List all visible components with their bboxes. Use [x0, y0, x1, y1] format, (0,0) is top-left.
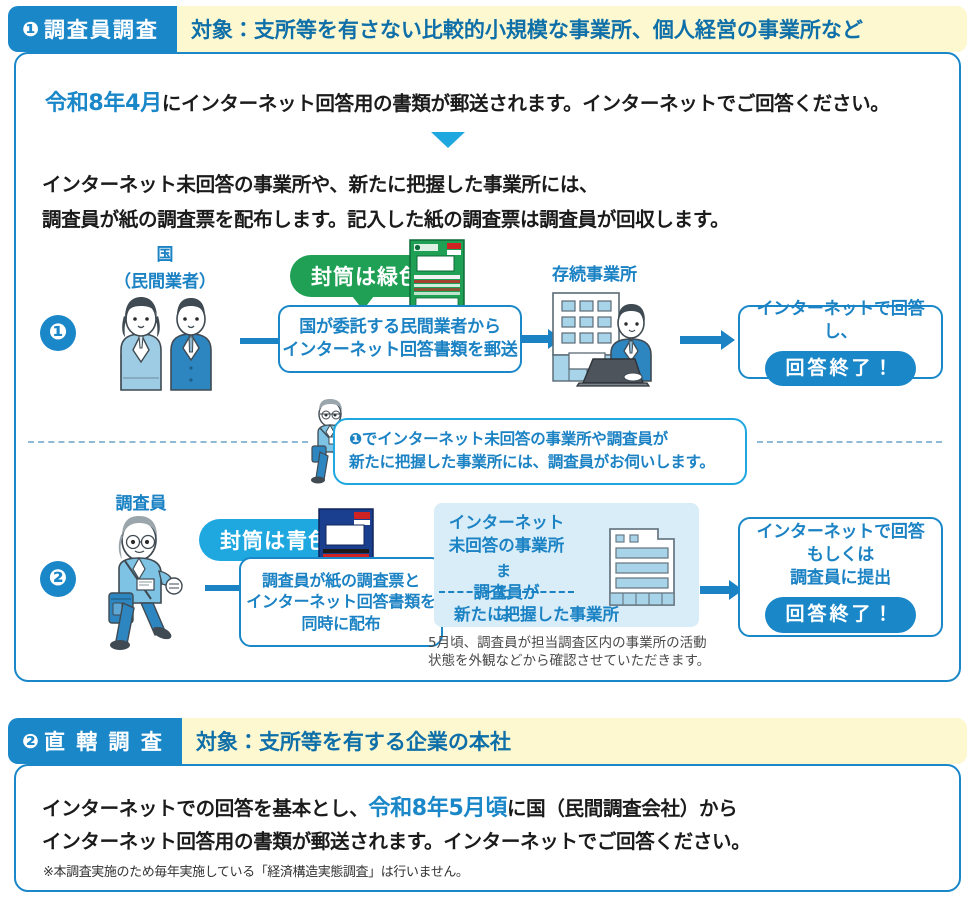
section2-line2: インターネット回答用の書類が郵送されます。インターネットでご回答ください。 [42, 825, 750, 854]
step2-envelope-bubble-label: 封筒は青色 [220, 525, 330, 555]
government-officials-illustration [103, 292, 229, 392]
step2-arrow-to-result [700, 586, 730, 594]
section2-line1: インターネットでの回答を基本とし、令和8年5月頃に国（民間調査会社）から [42, 790, 737, 822]
section1-sub-line1: インターネット未回答の事業所や、新たに把握した事業所には、 [42, 168, 598, 197]
step1-action-box: 国が委託する民間業者から インターネット回答書類を郵送 [278, 305, 522, 373]
section2-line1-a: インターネットでの回答を基本とし、 [42, 797, 368, 820]
step1-arrow-to-result [680, 336, 722, 344]
step2-action-box: 調査員が紙の調査票と インターネット回答書類を 同時に配布 [239, 557, 443, 647]
step2-result-box: インターネットで回答 もしくは 調査員に提出 回答終了！ [738, 517, 943, 637]
down-arrow-icon [431, 132, 465, 148]
middle-note-line2: 新たに把握した事業所には、調査員がお伺いします。 [349, 451, 731, 474]
section2-subject: 対象：支所等を有する企業の本社 [182, 718, 967, 764]
step1-target-label: 存続事業所 [552, 260, 692, 285]
step2-caption-line1: 5月頃、調査員が担当調査区内の事業所の活動 [428, 634, 710, 652]
middle-note-dash-right [757, 441, 942, 443]
section2-tab-label: 直 轄 調 査 [44, 726, 164, 756]
section2-line1-b: に国（民間調査会社）から [507, 797, 737, 820]
step2-target-box: インターネット 未回答の事業所 または 調査員が 新たに把握した事業所 [434, 503, 699, 627]
step2-result-line2: もしくは [807, 544, 874, 567]
step1-action-line2: インターネット回答書類を郵送 [282, 339, 517, 362]
section2-line1-highlight: 令和8年5月頃 [368, 796, 507, 821]
step1-actor-label-line2: （民間業者） [103, 267, 227, 292]
step2-action-line1: 調査員が紙の調査票と [262, 570, 420, 592]
step1-number: ❶ [40, 315, 76, 351]
step1-result-line1: インターネットで回答し、 [740, 298, 941, 344]
step2-caption: 5月頃、調査員が担当調査区内の事業所の活動 状態を外観などから確認させていただき… [428, 634, 710, 670]
step2-caption-line2: 状態を外観などから確認させていただきます。 [428, 652, 710, 670]
new-establishment-building-icon [604, 515, 684, 609]
step2-result-line3: 調査員に提出 [790, 567, 891, 590]
section1-tab: ❶ 調査員調査 [8, 6, 177, 52]
step1-connector-left [240, 338, 278, 344]
section2-footnote: ※本調査実施のため毎年実施している「経済構造実態調査」は行いません。 [43, 861, 469, 880]
step2-actor-label: 調査員 [86, 489, 196, 514]
step1-envelope-bubble-label: 封筒は緑色 [311, 261, 421, 291]
section1-intro-rest: にインターネット回答用の書類が郵送されます。インターネットでご回答ください。 [162, 92, 890, 115]
step2-number: ❷ [40, 561, 76, 597]
middle-note-line1: ❶でインターネット未回答の事業所や調査員が [349, 428, 731, 451]
step2-action-line3: 同時に配布 [301, 613, 380, 635]
section1-intro-highlight: 令和8年4月 [45, 91, 162, 116]
step2-result-pill: 回答終了！ [765, 597, 915, 633]
infographic-page: ❶ 調査員調査 対象：支所等を有さない比較的小規模な事業所、個人経営の事業所など… [0, 0, 975, 900]
middle-note-dash-left [28, 441, 308, 443]
section1-tab-label: 調査員調査 [44, 14, 159, 44]
surveyor-walking-illustration [93, 513, 197, 653]
section1-sub-line2: 調査員が紙の調査票を配布します。記入した紙の調査票は調査員が回収します。 [42, 203, 729, 232]
step2-action-line2: インターネット回答書類を [246, 591, 436, 613]
section2-tab: ❷ 直 轄 調 査 [8, 718, 182, 764]
section1-intro: 令和8年4月にインターネット回答用の書類が郵送されます。インターネットでご回答く… [45, 85, 889, 117]
middle-note-callout: ❶でインターネット未回答の事業所や調査員が 新たに把握した事業所には、調査員がお… [333, 418, 747, 485]
section1-banner: ❶ 調査員調査 対象：支所等を有さない比較的小規模な事業所、個人経営の事業所など [8, 6, 967, 52]
step1-result-pill: 回答終了！ [765, 351, 915, 387]
step2-connector-left [205, 585, 239, 591]
existing-establishment-illustration [549, 287, 677, 387]
section1-tab-number: ❶ [22, 17, 39, 41]
section2-banner: ❷ 直 轄 調 査 対象：支所等を有する企業の本社 [8, 718, 967, 764]
section2-tab-number: ❷ [22, 729, 39, 753]
step1-result-box: インターネットで回答し、 回答終了！ [738, 305, 943, 379]
step1-action-line1: 国が委託する民間業者から [299, 316, 501, 339]
step2-result-line1: インターネットで回答 [757, 521, 925, 544]
section1-subject: 対象：支所等を有さない比較的小規模な事業所、個人経営の事業所など [177, 6, 967, 52]
step1-actor-label-line1: 国 [103, 240, 227, 265]
step1-actor-label: 国 （民間業者） [103, 240, 227, 292]
step1-arrow-to-target [521, 335, 549, 343]
